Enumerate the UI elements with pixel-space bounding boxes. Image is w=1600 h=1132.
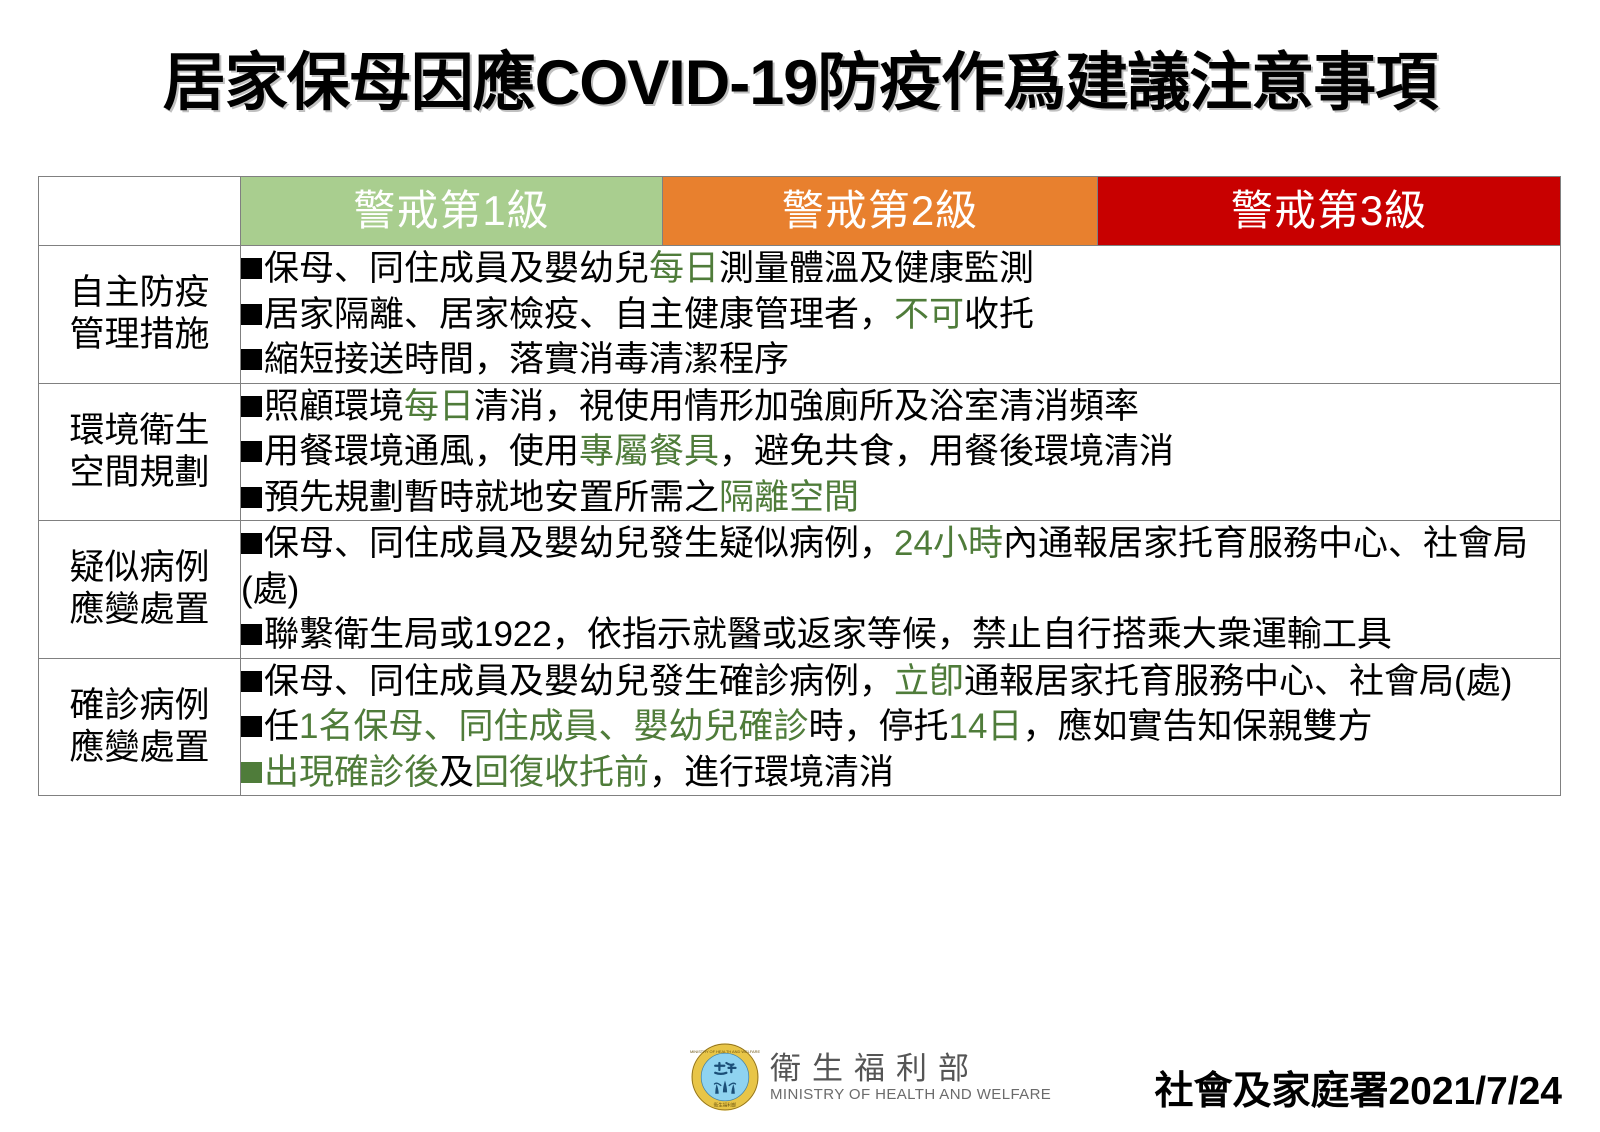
row-category-label: 環境衛生空間規劃: [39, 383, 241, 521]
bullet-text: 縮短接送時間，落實消毒清潔程序: [264, 340, 789, 379]
bullet-text: 聯繫衛生局或1922，依指示就醫或返家等候，禁止自行搭乘大衆運輸工具: [264, 615, 1392, 654]
bullet-square-icon: [241, 396, 262, 417]
svg-text:MINISTRY OF HEALTH AND WELFARE: MINISTRY OF HEALTH AND WELFARE: [690, 1049, 760, 1054]
row-category-label: 確診病例應變處置: [39, 658, 241, 796]
bullet-item: 照顧環境每日清消，視使用情形加強廁所及浴室清消頻率: [241, 384, 1560, 430]
bullet-text: 用餐環境通風，使用: [264, 432, 579, 471]
bullet-text-highlight: 每日: [649, 249, 719, 288]
bullet-text-highlight: 24小時: [894, 524, 1003, 563]
header-alert-level-1: 警戒第1級: [241, 177, 663, 246]
row-category-line: 應變處置: [39, 727, 240, 769]
bullet-square-icon: [241, 671, 262, 692]
bullet-text: 時，停托: [808, 707, 948, 746]
bullet-text-highlight: 專屬餐具: [579, 432, 719, 471]
row-category-label: 自主防疫管理措施: [39, 246, 241, 384]
bullet-item: 居家隔離、居家檢疫、自主健康管理者，不可收托: [241, 292, 1560, 338]
table-header-row: 警戒第1級 警戒第2級 警戒第3級: [39, 177, 1561, 246]
bullet-square-icon: [241, 441, 262, 462]
ministry-logo-group: MINISTRY OF HEALTH AND WELFARE 衛生福利部 衛生福…: [690, 1042, 1051, 1112]
ministry-name-block: 衛生福利部 MINISTRY OF HEALTH AND WELFARE: [770, 1053, 1051, 1102]
bullet-text: 居家隔離、居家檢疫、自主健康管理者，: [264, 295, 894, 334]
bullet-square-icon: [241, 258, 262, 279]
bullet-text: 清消，視使用情形加強廁所及浴室清消頻率: [474, 387, 1139, 426]
bullet-text: 保母、同住成員及嬰幼兒: [264, 249, 649, 288]
bullet-text: 預先規劃暫時就地安置所需之: [264, 478, 719, 517]
row-category-label: 疑似病例應變處置: [39, 521, 241, 659]
bullet-square-icon: [241, 533, 262, 554]
ministry-name-cn: 衛生福利部: [770, 1053, 1051, 1084]
bullet-text: ，應如實告知保親雙方: [1022, 707, 1372, 746]
header-alert-level-3: 警戒第3級: [1098, 177, 1561, 246]
bullet-text: 任: [264, 707, 299, 746]
bullet-text: 保母、同住成員及嬰幼兒發生疑似病例，: [264, 524, 894, 563]
row-category-line: 確診病例: [39, 685, 240, 727]
bullet-item: 預先規劃暫時就地安置所需之隔離空間: [241, 475, 1560, 521]
row-content-cell: 照顧環境每日清消，視使用情形加強廁所及浴室清消頻率用餐環境通風，使用專屬餐具，避…: [241, 383, 1561, 521]
bullet-text-highlight: 隔離空間: [719, 478, 859, 517]
row-category-line: 空間規劃: [39, 452, 240, 494]
ministry-name-en: MINISTRY OF HEALTH AND WELFARE: [770, 1087, 1051, 1102]
row-content-cell: 保母、同住成員及嬰幼兒每日測量體溫及健康監測居家隔離、居家檢疫、自主健康管理者，…: [241, 246, 1561, 384]
department-date-label: 社會及家庭署2021/7/24: [1154, 1060, 1562, 1116]
bullet-text-highlight: 每日: [404, 387, 474, 426]
row-content-cell: 保母、同住成員及嬰幼兒發生疑似病例，24小時內通報居家托育服務中心、社會局(處)…: [241, 521, 1561, 659]
table-row: 環境衛生空間規劃照顧環境每日清消，視使用情形加強廁所及浴室清消頻率用餐環境通風，…: [39, 383, 1561, 521]
header-corner-cell: [39, 177, 241, 246]
bullet-text: ，避免共食，用餐後環境清消: [719, 432, 1174, 471]
row-category-line: 應變處置: [39, 589, 240, 631]
bullet-text: 通報居家托育服務中心、社會局(處): [964, 662, 1512, 701]
bullet-text-highlight: 1名保母、同住成員、嬰幼兒確診: [299, 707, 808, 746]
bullet-item: 保母、同住成員及嬰幼兒發生確診病例，立卽通報居家托育服務中心、社會局(處): [241, 659, 1560, 705]
bullet-square-icon: [241, 487, 262, 508]
bullet-text: 收托: [964, 295, 1034, 334]
bullet-text: ，進行環境清消: [649, 753, 894, 792]
bullet-text-highlight: 出現確診後: [264, 753, 439, 792]
bullet-text-highlight: 立卽: [894, 662, 964, 701]
bullet-text: 及: [439, 753, 474, 792]
bullet-text: 測量體溫及健康監測: [719, 249, 1034, 288]
bullet-item: 聯繫衛生局或1922，依指示就醫或返家等候，禁止自行搭乘大衆運輸工具: [241, 612, 1560, 658]
bullet-item: 用餐環境通風，使用專屬餐具，避免共食，用餐後環境清消: [241, 429, 1560, 475]
header-alert-level-2: 警戒第2級: [663, 177, 1098, 246]
bullet-text-highlight: 14日: [949, 707, 1023, 746]
bullet-text: 照顧環境: [264, 387, 404, 426]
bullet-text-highlight: 不可: [894, 295, 964, 334]
bullet-text-highlight: 回復收托前: [474, 753, 649, 792]
mohw-seal-icon: MINISTRY OF HEALTH AND WELFARE 衛生福利部: [690, 1042, 760, 1112]
bullet-square-icon: [241, 716, 262, 737]
page-footer: MINISTRY OF HEALTH AND WELFARE 衛生福利部 衛生福…: [0, 1038, 1600, 1132]
row-content-cell: 保母、同住成員及嬰幼兒發生確診病例，立卽通報居家托育服務中心、社會局(處)任1名…: [241, 658, 1561, 796]
bullet-item: 保母、同住成員及嬰幼兒每日測量體溫及健康監測: [241, 246, 1560, 292]
bullet-square-icon: [241, 304, 262, 325]
row-category-line: 環境衛生: [39, 410, 240, 452]
guidance-matrix-table: 警戒第1級 警戒第2級 警戒第3級 自主防疫管理措施保母、同住成員及嬰幼兒每日測…: [38, 176, 1561, 796]
bullet-square-icon: [241, 762, 262, 783]
bullet-item: 出現確診後及回復收托前，進行環境清消: [241, 750, 1560, 796]
bullet-item: 保母、同住成員及嬰幼兒發生疑似病例，24小時內通報居家托育服務中心、社會局(處): [241, 521, 1560, 612]
row-category-line: 疑似病例: [39, 547, 240, 589]
guidance-table-container: 警戒第1級 警戒第2級 警戒第3級 自主防疫管理措施保母、同住成員及嬰幼兒每日測…: [38, 176, 1560, 796]
svg-text:衛生福利部: 衛生福利部: [714, 1101, 737, 1108]
bullet-square-icon: [241, 624, 262, 645]
bullet-item: 任1名保母、同住成員、嬰幼兒確診時，停托14日，應如實告知保親雙方: [241, 704, 1560, 750]
page-title: 居家保母因應COVID-19防疫作爲建議注意事項: [0, 52, 1600, 115]
table-row: 疑似病例應變處置保母、同住成員及嬰幼兒發生疑似病例，24小時內通報居家托育服務中…: [39, 521, 1561, 659]
row-category-line: 管理措施: [39, 314, 240, 356]
table-row: 確診病例應變處置保母、同住成員及嬰幼兒發生確診病例，立卽通報居家托育服務中心、社…: [39, 658, 1561, 796]
row-category-line: 自主防疫: [39, 272, 240, 314]
table-row: 自主防疫管理措施保母、同住成員及嬰幼兒每日測量體溫及健康監測居家隔離、居家檢疫、…: [39, 246, 1561, 384]
bullet-text: 保母、同住成員及嬰幼兒發生確診病例，: [264, 662, 894, 701]
table-body: 自主防疫管理措施保母、同住成員及嬰幼兒每日測量體溫及健康監測居家隔離、居家檢疫、…: [39, 246, 1561, 796]
bullet-square-icon: [241, 349, 262, 370]
bullet-item: 縮短接送時間，落實消毒清潔程序: [241, 337, 1560, 383]
